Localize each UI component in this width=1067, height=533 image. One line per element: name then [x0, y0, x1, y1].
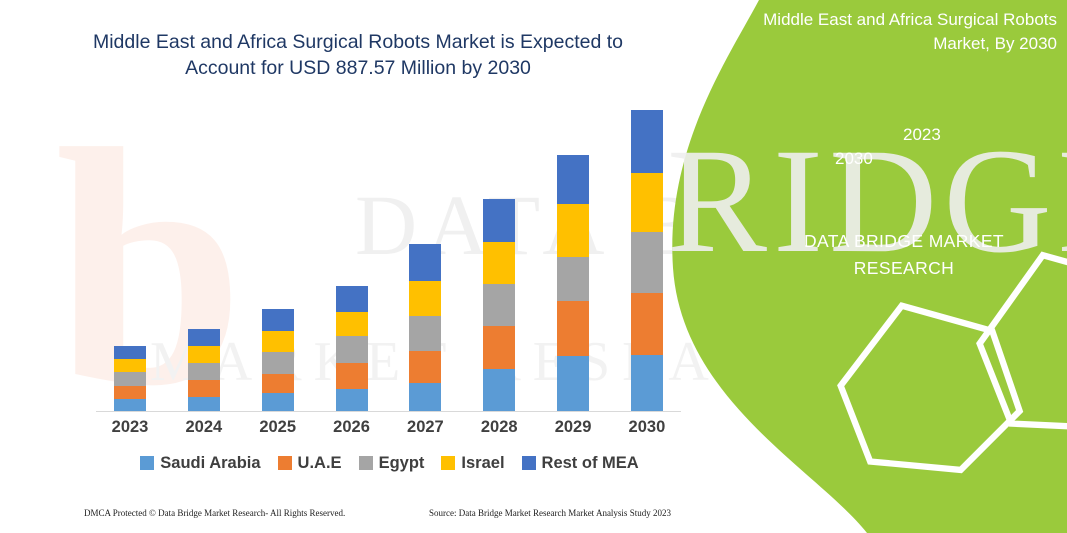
legend-swatch-icon — [140, 456, 154, 470]
bar-group — [96, 110, 681, 412]
bar-segment-egypt-2026[interactable] — [336, 336, 368, 362]
legend-item-israel[interactable]: Israel — [441, 454, 504, 473]
bar-segment-rest-of-mea-2025[interactable] — [262, 309, 294, 331]
legend-item-rest-of-mea[interactable]: Rest of MEA — [522, 454, 639, 473]
hexagon-2030-label: 2030 — [835, 149, 873, 169]
bar-2023[interactable] — [114, 346, 146, 412]
hexagon-2030-shape — [841, 306, 1020, 470]
bar-segment-saudi-arabia-2027[interactable] — [409, 383, 441, 412]
brand-line-1: DATA BRIDGE MARKET — [789, 228, 1019, 255]
chart-canvas: b DATA BRIDGE MARKET RESEARCH Middle Eas… — [0, 0, 1067, 533]
x-tick-2026: 2026 — [326, 418, 378, 444]
bar-2024[interactable] — [188, 329, 220, 412]
brand-name: DATA BRIDGE MARKET RESEARCH — [789, 228, 1019, 282]
bar-segment-u-a-e-2026[interactable] — [336, 363, 368, 389]
bar-segment-u-a-e-2027[interactable] — [409, 351, 441, 384]
bar-segment-egypt-2025[interactable] — [262, 352, 294, 374]
bar-2026[interactable] — [336, 286, 368, 412]
bar-segment-israel-2028[interactable] — [483, 242, 515, 284]
x-tick-2023: 2023 — [104, 418, 156, 444]
bar-segment-u-a-e-2029[interactable] — [557, 301, 589, 356]
brand-panel: RIDGE Middle East and Africa Surgical Ro… — [667, 0, 1067, 533]
bar-2025[interactable] — [262, 309, 294, 412]
x-tick-2024: 2024 — [178, 418, 230, 444]
legend-label: Egypt — [379, 454, 425, 473]
footer: DMCA Protected © Data Bridge Market Rese… — [84, 508, 684, 524]
legend-label: Israel — [461, 454, 504, 473]
bar-segment-u-a-e-2025[interactable] — [262, 374, 294, 394]
bar-2027[interactable] — [409, 244, 441, 412]
bar-segment-rest-of-mea-2023[interactable] — [114, 346, 146, 359]
legend-label: U.A.E — [298, 454, 342, 473]
bar-segment-saudi-arabia-2029[interactable] — [557, 356, 589, 412]
bar-segment-egypt-2029[interactable] — [557, 257, 589, 301]
chart-legend: Saudi ArabiaU.A.EEgyptIsraelRest of MEA — [102, 450, 677, 476]
bar-segment-saudi-arabia-2024[interactable] — [188, 397, 220, 412]
legend-swatch-icon — [441, 456, 455, 470]
bar-segment-saudi-arabia-2026[interactable] — [336, 389, 368, 412]
x-tick-2028: 2028 — [473, 418, 525, 444]
bar-segment-egypt-2024[interactable] — [188, 363, 220, 381]
bar-2028[interactable] — [483, 199, 515, 412]
legend-swatch-icon — [359, 456, 373, 470]
panel-watermark: RIDGE — [667, 115, 1067, 287]
bar-segment-u-a-e-2024[interactable] — [188, 380, 220, 396]
bar-2029[interactable] — [557, 155, 589, 412]
bar-segment-rest-of-mea-2027[interactable] — [409, 244, 441, 281]
bar-segment-saudi-arabia-2028[interactable] — [483, 369, 515, 412]
axis-baseline — [96, 411, 681, 412]
x-tick-2027: 2027 — [399, 418, 451, 444]
bar-segment-egypt-2030[interactable] — [631, 232, 663, 293]
bar-segment-u-a-e-2030[interactable] — [631, 293, 663, 354]
bar-segment-rest-of-mea-2028[interactable] — [483, 199, 515, 242]
footer-copyright: DMCA Protected © Data Bridge Market Rese… — [84, 508, 345, 518]
bar-segment-rest-of-mea-2030[interactable] — [631, 110, 663, 173]
bar-segment-israel-2023[interactable] — [114, 359, 146, 372]
bar-segment-u-a-e-2023[interactable] — [114, 386, 146, 399]
bar-segment-rest-of-mea-2029[interactable] — [557, 155, 589, 204]
legend-label: Saudi Arabia — [160, 454, 260, 473]
bar-segment-saudi-arabia-2030[interactable] — [631, 355, 663, 412]
hexagon-2023-shape — [980, 255, 1067, 428]
legend-item-egypt[interactable]: Egypt — [359, 454, 425, 473]
x-tick-2029: 2029 — [547, 418, 599, 444]
plot-area — [96, 110, 681, 412]
legend-item-saudi-arabia[interactable]: Saudi Arabia — [140, 454, 260, 473]
panel-title: Middle East and Africa Surgical Robots M… — [727, 8, 1057, 56]
bar-segment-rest-of-mea-2024[interactable] — [188, 329, 220, 347]
bar-segment-israel-2027[interactable] — [409, 281, 441, 316]
footer-source: Source: Data Bridge Market Research Mark… — [429, 508, 671, 518]
bar-segment-saudi-arabia-2025[interactable] — [262, 393, 294, 412]
hexagon-badges: 2030 2023 — [807, 95, 997, 200]
x-axis-labels: 20232024202520262027202820292030 — [96, 418, 681, 444]
brand-line-2: RESEARCH — [789, 255, 1019, 282]
x-tick-2025: 2025 — [252, 418, 304, 444]
bar-segment-egypt-2027[interactable] — [409, 316, 441, 350]
bar-segment-egypt-2023[interactable] — [114, 372, 146, 385]
bar-segment-israel-2030[interactable] — [631, 173, 663, 232]
legend-label: Rest of MEA — [542, 454, 639, 473]
bar-segment-rest-of-mea-2026[interactable] — [336, 286, 368, 312]
legend-swatch-icon — [278, 456, 292, 470]
bar-segment-israel-2026[interactable] — [336, 312, 368, 336]
bar-segment-u-a-e-2028[interactable] — [483, 326, 515, 369]
bar-segment-egypt-2028[interactable] — [483, 284, 515, 327]
legend-item-u-a-e[interactable]: U.A.E — [278, 454, 342, 473]
legend-swatch-icon — [522, 456, 536, 470]
x-tick-2030: 2030 — [621, 418, 673, 444]
bar-segment-israel-2024[interactable] — [188, 346, 220, 362]
bar-2030[interactable] — [631, 110, 663, 412]
bar-segment-israel-2025[interactable] — [262, 331, 294, 352]
chart-title: Middle East and Africa Surgical Robots M… — [78, 29, 638, 81]
hexagon-2023-label: 2023 — [903, 125, 941, 145]
bar-segment-israel-2029[interactable] — [557, 204, 589, 257]
